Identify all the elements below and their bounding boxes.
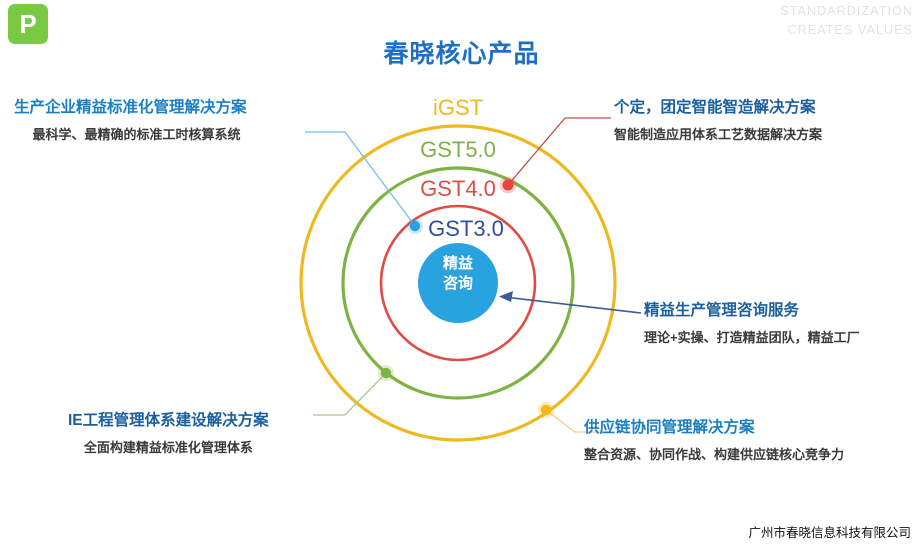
company-footer: 广州市春晓信息科技有限公司 xyxy=(748,522,911,541)
core-label-line-2: 咨询 xyxy=(418,274,498,294)
callout-subtitle: 理论+实操、打造精益团队，精益工厂 xyxy=(644,327,860,346)
node-green-icon[interactable] xyxy=(381,368,391,378)
slide-canvas: P STANDARDIZATION CREATES VALUES 春晓核心产品 xyxy=(0,0,923,549)
callout-subtitle: 智能制造应用体系工艺数据解决方案 xyxy=(614,124,822,143)
core-bubble-label: 精益 咨询 xyxy=(418,254,498,294)
callout-ie-engineering: IE工程管理体系建设解决方案 全面构建精益标准化管理体系 xyxy=(68,408,269,456)
core-label-line-1: 精益 xyxy=(418,254,498,274)
connector-line-bottom-left xyxy=(313,373,386,415)
node-yellow-icon[interactable] xyxy=(541,405,551,415)
ring-label-gst5: GST5.0 xyxy=(358,137,558,163)
callout-lean-consulting: 精益生产管理咨询服务 理论+实操、打造精益团队，精益工厂 xyxy=(644,298,860,346)
ring-label-gst4: GST4.0 xyxy=(358,176,558,202)
callout-subtitle: 全面构建精益标准化管理体系 xyxy=(68,437,269,456)
callout-supply-chain: 供应链协同管理解决方案 整合资源、协同作战、构建供应链核心竞争力 xyxy=(584,415,844,463)
ring-label-igst: iGST xyxy=(358,95,558,121)
ring-label-gst3: GST3.0 xyxy=(366,216,566,242)
connector-arrowhead-middle-right xyxy=(499,291,513,302)
callout-heading: 个定，团定智能智造解决方案 xyxy=(614,95,822,117)
callout-production-standardization: 生产企业精益标准化管理解决方案 最科学、最精确的标准工时核算系统 xyxy=(14,95,247,143)
callout-smart-manufacturing: 个定，团定智能智造解决方案 智能制造应用体系工艺数据解决方案 xyxy=(614,95,822,143)
callout-subtitle: 整合资源、协同作战、构建供应链核心竞争力 xyxy=(584,444,844,463)
callout-subtitle: 最科学、最精确的标准工时核算系统 xyxy=(14,124,247,143)
callout-heading: IE工程管理体系建设解决方案 xyxy=(68,408,269,430)
callout-heading: 生产企业精益标准化管理解决方案 xyxy=(14,95,247,117)
callout-heading: 供应链协同管理解决方案 xyxy=(584,415,844,437)
callout-heading: 精益生产管理咨询服务 xyxy=(644,298,860,320)
